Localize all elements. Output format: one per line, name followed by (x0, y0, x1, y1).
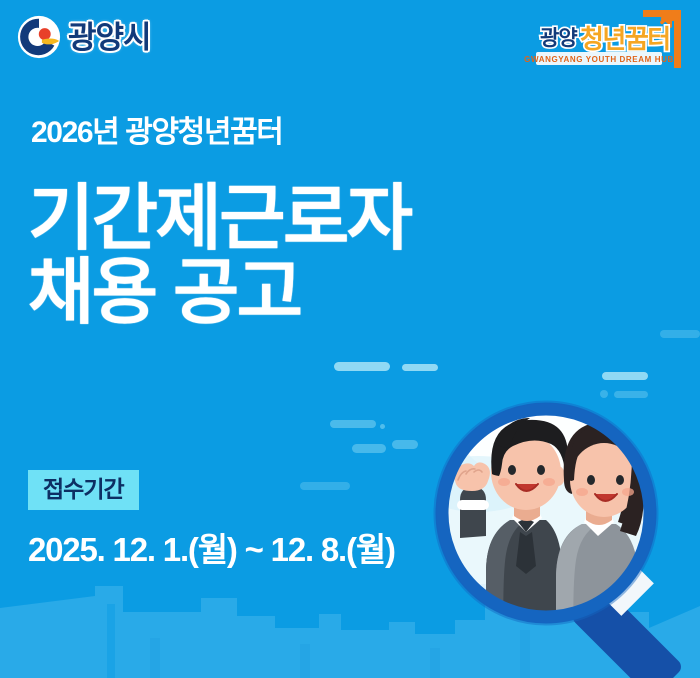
decor-dash-6 (602, 372, 648, 380)
headline-line-2: 채용 공고 (28, 256, 410, 330)
magnifying-glass-illustration (408, 388, 700, 678)
headline-line-1: 기간제근로자 (28, 179, 410, 259)
decor-dash-2 (402, 364, 438, 371)
poster-eyebrow-text: 2026년 광양청년꿈터 (31, 118, 282, 148)
decor-dot-1 (380, 424, 385, 429)
decor-dash-4 (352, 444, 386, 453)
svg-text:광양: 광양 (540, 27, 577, 50)
gwangyang-youth-dream-hub-logo: 광양 청년꿈터 GWANGYANG YOUTH DREAM HUB (522, 2, 690, 72)
poster-headline: 기간제근로자 채용 공고 (28, 182, 410, 330)
decor-dash-1 (334, 362, 390, 371)
svg-text:GWANGYANG YOUTH DREAM HUB: GWANGYANG YOUTH DREAM HUB (524, 55, 674, 64)
recruitment-poster: 광양시 광양 청년꿈터 GWANGYANG YOUTH DREAM HUB 20… (0, 0, 700, 678)
application-period-badge: 접수기간 (28, 470, 139, 510)
gwangyang-city-logo-text: 광양시 (68, 22, 151, 53)
svg-text:청년꿈터: 청년꿈터 (580, 24, 670, 54)
gwangyang-city-logo: 광양시 (16, 14, 151, 60)
decor-dash-9 (300, 482, 350, 490)
decor-dash-3 (330, 420, 376, 428)
application-period-dates: 2025. 12. 1.(월) ~ 12. 8.(월) (28, 533, 395, 566)
gwangyang-city-emblem-icon (16, 14, 62, 60)
decor-dash-8 (660, 330, 700, 338)
